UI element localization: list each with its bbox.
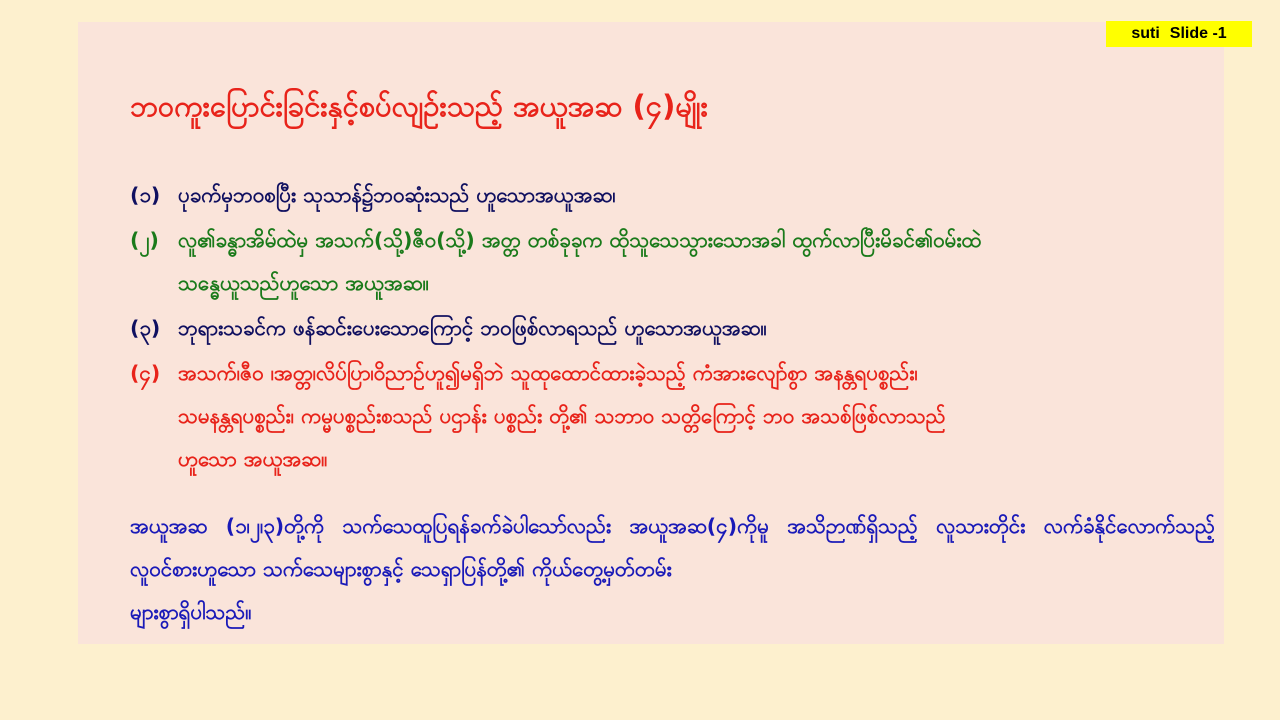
list-item-text-continuation: သန္ဓေယူသည်ဟူသော အယူအဆ။ xyxy=(130,262,1200,305)
closing-paragraph-line: များစွာရှိပါသည်။ xyxy=(130,591,1215,634)
list-item-text: ပုခက်မှဘဝစပြီး သုသာန်၌ဘဝဆုံးသည် ဟူသောအယူ… xyxy=(178,183,616,207)
slide-root: suti Slide -1 ဘဝကူးပြောင်းခြင်းနှင့်စပ်လ… xyxy=(0,0,1280,720)
list-item: (၂)လူ၏ခန္ဓာအိမ်ထဲမှ အသက်(သို့)ဇီဝ(သို့) … xyxy=(130,219,1200,305)
list-item: (၄)အသက်၊ဇီဝ ၊အတ္တ၊လိပ်ပြာ၊ဝိညာဉ်ဟူ၍မရှိဘ… xyxy=(130,352,1200,481)
list-item-text: လူ၏ခန္ဓာအိမ်ထဲမှ အသက်(သို့)ဇီဝ(သို့) အတ္… xyxy=(178,228,981,252)
slide-title: ဘဝကူးပြောင်းခြင်းနှင့်စပ်လျဉ်းသည့် အယူအဆ… xyxy=(130,90,1130,123)
list-item: (၁)ပုခက်မှဘဝစပြီး သုသာန်၌ဘဝဆုံးသည် ဟူသော… xyxy=(130,174,1200,217)
list-item-marker: (၂) xyxy=(130,219,178,262)
list-item-text: ဘုရားသခင်က ဖန်ဆင်းပေးသောကြောင့် ဘဝဖြစ်လာ… xyxy=(178,316,767,340)
closing-paragraph: အယူအဆ (၁၊၂၊၃)တို့ကို သက်သေထူပြရန်ခက်ခဲပါ… xyxy=(130,505,1215,634)
list-item-marker: (၁) xyxy=(130,174,178,217)
list-item-text-continuation: သမနန္တရပစ္စည်း၊ ကမ္မပစ္စည်းစသည် ပဌာန်း ပ… xyxy=(130,395,1200,438)
concept-list: (၁)ပုခက်မှဘဝစပြီး သုသာန်၌ဘဝဆုံးသည် ဟူသော… xyxy=(130,174,1200,483)
list-item-text-continuation: ဟူသော အယူအဆ။ xyxy=(130,438,1200,481)
slide-number-badge: suti Slide -1 xyxy=(1106,21,1252,47)
badge-author-label: suti xyxy=(1131,25,1159,43)
closing-paragraph-line: အယူအဆ (၁၊၂၊၃)တို့ကို သက်သေထူပြရန်ခက်ခဲပါ… xyxy=(130,514,1025,538)
list-item-marker: (၃) xyxy=(130,307,178,350)
list-item-text: အသက်၊ဇီဝ ၊အတ္တ၊လိပ်ပြာ၊ဝိညာဉ်ဟူ၍မရှိဘဲ သ… xyxy=(178,361,918,385)
list-item-marker: (၄) xyxy=(130,352,178,395)
badge-slide-label: Slide -1 xyxy=(1170,25,1227,43)
list-item: (၃)ဘုရားသခင်က ဖန်ဆင်းပေးသောကြောင့် ဘဝဖြစ… xyxy=(130,307,1200,350)
